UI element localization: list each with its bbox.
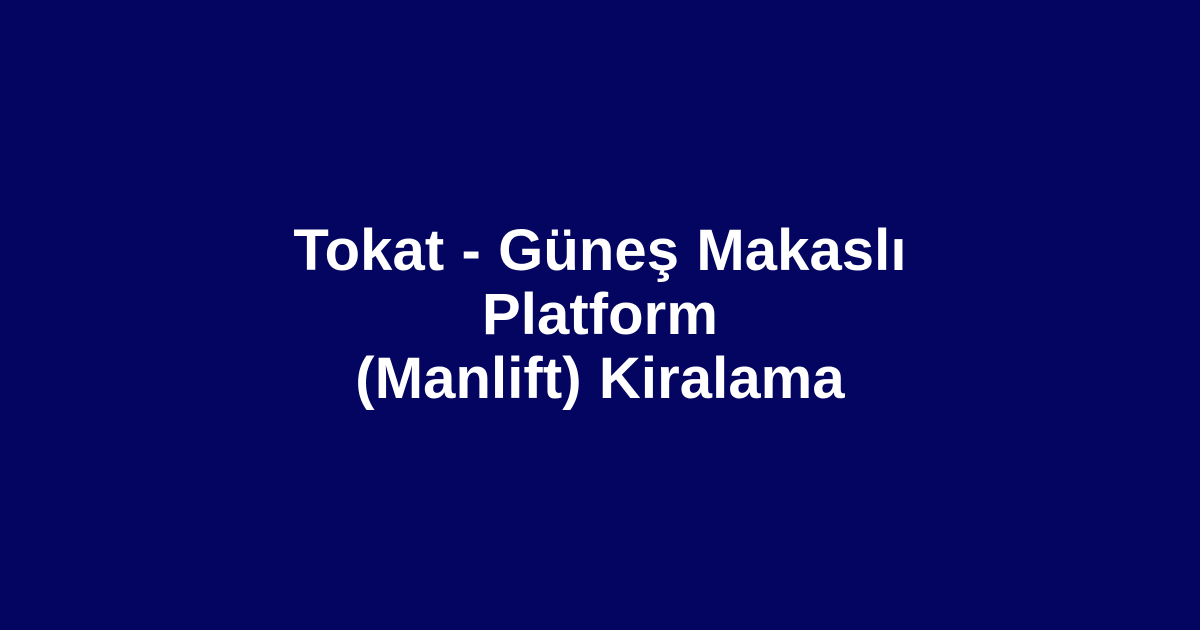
page-title-line-2: (Manlift) Kiralama [174,347,1026,411]
page-title-line-1: Tokat - Güneş Makaslı Platform [174,219,1026,347]
headline-block: Tokat - Güneş Makaslı Platform (Manlift)… [150,219,1050,411]
page-title: Tokat - Güneş Makaslı Platform (Manlift)… [174,219,1026,411]
og-banner-card: Tokat - Güneş Makaslı Platform (Manlift)… [0,0,1200,630]
